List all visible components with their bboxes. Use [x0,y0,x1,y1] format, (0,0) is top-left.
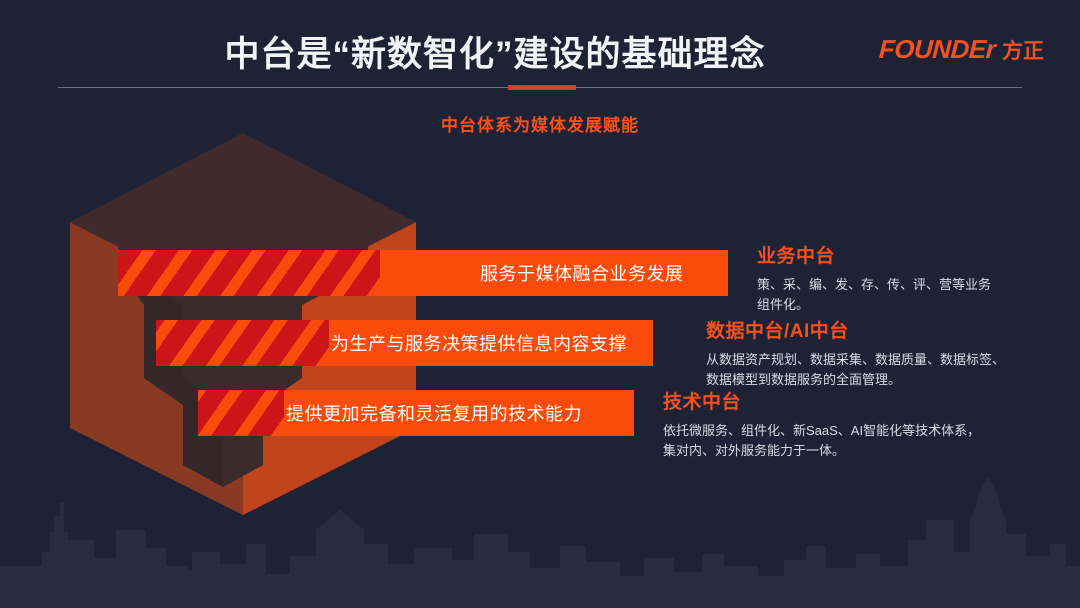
slide-root: 中台是“新数智化”建设的基础理念 FOUNDEr 方正 中台体系为媒体发展赋能 … [0,0,1080,608]
description-body: 依托微服务、组件化、新SaaS、AI智能化等技术体系， 集对内、对外服务能力于一… [663,421,1043,461]
description-heading: 数据中台/AI中台 [706,316,1046,343]
header-divider-accent [508,85,576,90]
funnel-bar-stripes [118,250,380,296]
funnel-bar-technology[interactable]: 提供更加完备和灵活复用的技术能力 [198,390,634,436]
slide-header: 中台是“新数智化”建设的基础理念 FOUNDEr 方正 [0,0,1080,95]
funnel-bar-stripes [156,320,329,366]
logo-chinese-mark: 方正 [1002,35,1044,65]
description-block-technology: 技术中台 依托微服务、组件化、新SaaS、AI智能化等技术体系， 集对内、对外服… [663,387,1043,461]
description-block-business: 业务中台 策、采、编、发、存、传、评、营等业务 组件化。 [757,241,1057,315]
description-heading: 业务中台 [757,241,1057,268]
logo-wordmark: FOUNDEr [878,34,996,65]
description-body: 从数据资产规划、数据采集、数据质量、数据标签、 数据模型到数据服务的全面管理。 [706,350,1046,390]
funnel-bar-stripes [198,390,284,436]
funnel-bar-business[interactable]: 服务于媒体融合业务发展 [118,250,728,296]
description-heading: 技术中台 [663,387,1043,414]
funnel-bar-data[interactable]: 为生产与服务决策提供信息内容支撑 [156,320,653,366]
description-body: 策、采、编、发、存、传、评、营等业务 组件化。 [757,275,1057,315]
funnel-bar-label: 服务于媒体融合业务发展 [480,260,684,286]
funnel-bar-label: 提供更加完备和灵活复用的技术能力 [286,400,582,426]
funnel-bar-label: 为生产与服务决策提供信息内容支撑 [331,330,627,356]
description-block-data: 数据中台/AI中台 从数据资产规划、数据采集、数据质量、数据标签、 数据模型到数… [706,316,1046,390]
founder-logo: FOUNDEr 方正 [879,34,1044,65]
